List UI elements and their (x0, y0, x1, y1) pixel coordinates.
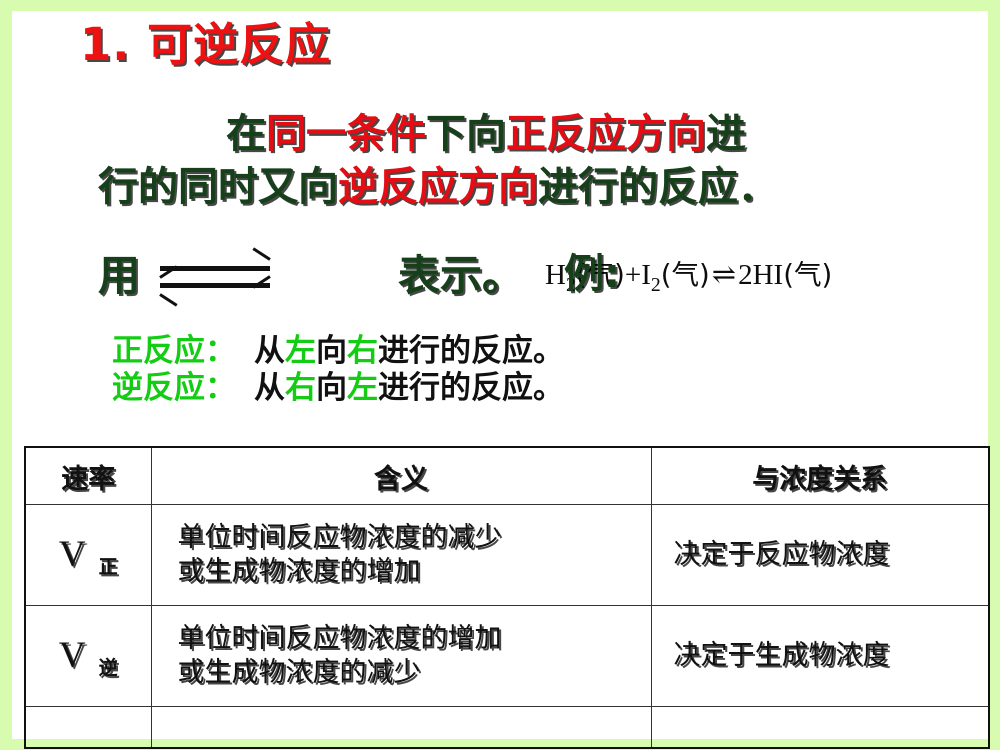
forward-direction-from: 左 (285, 333, 316, 369)
rate-symbol-letter: V (59, 534, 86, 575)
rate-comparison-table: 速率 含义 与浓度关系 V正 单位时间反应物浓度的减少 或生成物浓度的增加 决定… (24, 446, 990, 749)
meaning-reverse-line-2: 或生成物浓度的减少 (178, 656, 651, 690)
reverse-text-b: 向 (316, 370, 347, 406)
arrow-head-left-lower (159, 293, 177, 306)
definition-highlight-condition: 同一条件 (266, 111, 426, 157)
rate-symbol-forward: V正 (59, 535, 118, 575)
equation-product-state: (气) (783, 259, 832, 291)
reverse-reaction-label: 逆反应： (112, 370, 236, 406)
table-header-row: 速率 含义 与浓度关系 (25, 447, 989, 505)
definition-text-d: 行的同时又向 (98, 164, 338, 210)
reverse-direction-to: 左 (347, 370, 378, 406)
reaction-direction-explanation: 正反应：从左向右进行的反应。 逆反应：从右向左进行的反应。 (112, 333, 564, 407)
spacer-cell (151, 707, 651, 749)
table-bottom-spacer-row (25, 707, 989, 749)
slide-canvas: 1. 可逆反应 在同一条件下向正反应方向进 行的同时又向逆反应方向进行的反应． … (12, 11, 988, 739)
forward-reaction-label: 正反应： (112, 333, 236, 369)
definition-highlight-forward: 正反应方向 (506, 111, 706, 157)
meaning-forward-cell: 单位时间反应物浓度的减少 或生成物浓度的增加 (151, 505, 651, 606)
explanation-row-forward: 正反应：从左向右进行的反应。 (112, 333, 564, 370)
equation-h2: H (545, 259, 566, 291)
equation-i2-subscript: 2 (651, 274, 661, 296)
usage-use-label: 用 (98, 250, 140, 302)
spacer-cell (651, 707, 989, 749)
table-header-meaning: 含义 (151, 447, 651, 505)
table-header-relation: 与浓度关系 (651, 447, 989, 505)
definition-paragraph: 在同一条件下向正反应方向进 行的同时又向逆反应方向进行的反应． (98, 108, 978, 214)
reverse-text-c: 进行的反应。 (378, 370, 564, 406)
equation-i2-state: (气) (661, 259, 710, 291)
equilibrium-double-arrow-icon (160, 258, 272, 294)
table-row: V正 单位时间反应物浓度的减少 或生成物浓度的增加 决定于反应物浓度 (25, 505, 989, 606)
rate-symbol-subscript: 正 (99, 547, 118, 587)
equation-product: 2HI (738, 259, 783, 291)
forward-text-c: 进行的反应。 (378, 333, 564, 369)
forward-direction-to: 右 (347, 333, 378, 369)
spacer-cell (25, 707, 151, 749)
meaning-reverse-cell: 单位时间反应物浓度的增加 或生成物浓度的减少 (151, 606, 651, 707)
definition-text-e: 进行的反应． (538, 164, 778, 210)
definition-text-c: 进 (706, 111, 746, 157)
arrow-bar-bottom (160, 283, 270, 288)
relation-forward-cell: 决定于反应物浓度 (651, 505, 989, 606)
explanation-row-reverse: 逆反应：从右向左进行的反应。 (112, 370, 564, 407)
slide-frame: 1. 可逆反应 在同一条件下向正反应方向进 行的同时又向逆反应方向进行的反应． … (0, 0, 1000, 750)
rate-symbol-reverse-cell: V逆 (25, 606, 151, 707)
page-title: 1. 可逆反应 (80, 19, 331, 71)
rate-symbol-forward-cell: V正 (25, 505, 151, 606)
usage-show-label: 表示。 (398, 250, 524, 302)
definition-line-2: 行的同时又向逆反应方向进行的反应． (98, 161, 978, 214)
definition-text-a: 在 (226, 111, 266, 157)
definition-highlight-reverse: 逆反应方向 (338, 164, 538, 210)
rate-symbol-letter: V (59, 635, 86, 676)
forward-text-b: 向 (316, 333, 347, 369)
rate-symbol-reverse: V逆 (59, 636, 118, 676)
reverse-text-a: 从 (254, 370, 285, 406)
relation-reverse-cell: 决定于生成物浓度 (651, 606, 989, 707)
reverse-direction-from: 右 (285, 370, 316, 406)
equation-i2: I (641, 259, 651, 291)
meaning-reverse-line-1: 单位时间反应物浓度的增加 (178, 622, 651, 656)
meaning-forward-line-1: 单位时间反应物浓度的减少 (178, 521, 651, 555)
table-row: V逆 单位时间反应物浓度的增加 或生成物浓度的减少 决定于生成物浓度 (25, 606, 989, 707)
rate-symbol-subscript: 逆 (99, 648, 118, 688)
equation-equilibrium-symbol: ⇌ (710, 259, 738, 291)
definition-text-b: 下向 (426, 111, 506, 157)
table-header-rate: 速率 (25, 447, 151, 505)
example-label: 例: (564, 249, 620, 299)
equation-plus: + (625, 259, 641, 291)
definition-line-1: 在同一条件下向正反应方向进 (98, 108, 978, 161)
meaning-forward-line-2: 或生成物浓度的增加 (178, 555, 651, 589)
arrow-head-right-upper (252, 247, 270, 260)
forward-text-a: 从 (254, 333, 285, 369)
